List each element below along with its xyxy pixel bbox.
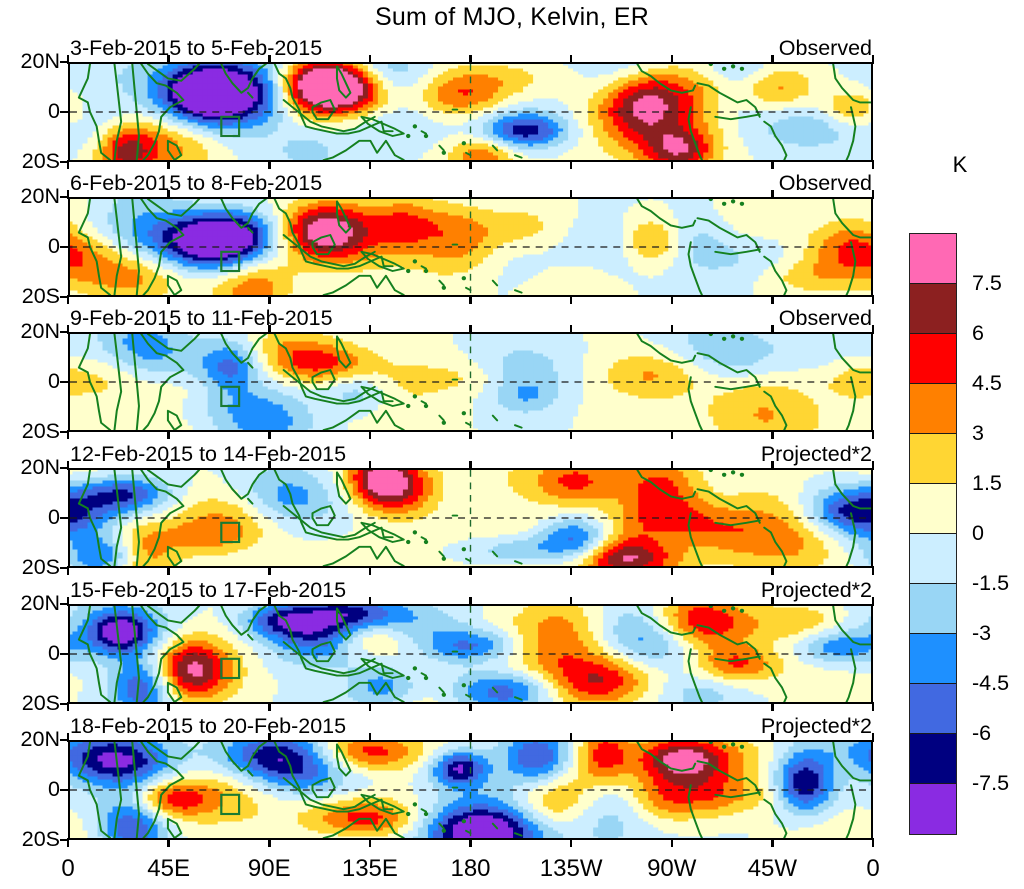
x-tick-mark bbox=[570, 597, 573, 606]
x-tick-mark bbox=[671, 430, 674, 439]
panel-date-label: 6-Feb-2015 to 8-Feb-2015 bbox=[70, 171, 322, 196]
colorbar-band bbox=[910, 684, 956, 734]
panel-date-label: 12-Feb-2015 to 14-Feb-2015 bbox=[70, 442, 346, 467]
colorbar-band bbox=[910, 634, 956, 684]
x-tick-mark bbox=[570, 702, 573, 711]
x-tick-mark bbox=[671, 55, 674, 64]
x-tick-mark bbox=[167, 430, 170, 439]
colorbar-band bbox=[910, 484, 956, 534]
panel-plot-area[interactable] bbox=[68, 62, 873, 162]
x-tick-mark bbox=[771, 325, 774, 334]
x-tick-mark bbox=[469, 160, 472, 169]
colorbar-tick-label: 7.5 bbox=[972, 273, 1002, 295]
panel-canvas bbox=[70, 470, 871, 566]
x-tick-label: 0 bbox=[61, 856, 74, 882]
x-tick-mark bbox=[671, 566, 674, 575]
x-tick-mark bbox=[872, 597, 875, 606]
x-tick-mark bbox=[268, 702, 271, 711]
x-tick-mark bbox=[268, 55, 271, 64]
panel-plot-area[interactable] bbox=[68, 197, 873, 297]
y-tick-label: 0 bbox=[0, 101, 60, 123]
panel-canvas bbox=[70, 606, 871, 702]
x-tick-mark bbox=[570, 733, 573, 742]
x-tick-label: 45E bbox=[147, 856, 190, 882]
colorbar-unit-label: K bbox=[930, 152, 990, 178]
x-tick-mark bbox=[268, 566, 271, 575]
x-tick-mark bbox=[671, 325, 674, 334]
x-tick-mark bbox=[369, 461, 372, 470]
colorbar-tick-label: -1.5 bbox=[972, 573, 1009, 595]
x-tick-mark bbox=[67, 295, 70, 304]
x-tick-mark bbox=[771, 733, 774, 742]
x-tick-label: 0 bbox=[866, 856, 879, 882]
x-tick-mark bbox=[167, 461, 170, 470]
colorbar-tick-label: 4.5 bbox=[972, 373, 1002, 395]
x-tick-mark bbox=[268, 597, 271, 606]
x-tick-mark bbox=[570, 160, 573, 169]
y-tick-label: 20N bbox=[0, 186, 60, 208]
x-tick-mark bbox=[771, 597, 774, 606]
x-tick-mark bbox=[872, 566, 875, 575]
x-tick-mark bbox=[771, 566, 774, 575]
x-tick-mark bbox=[67, 190, 70, 199]
colorbar-band bbox=[910, 784, 956, 834]
x-tick-mark bbox=[469, 325, 472, 334]
y-tick-mark bbox=[60, 517, 69, 520]
y-tick-mark bbox=[60, 246, 69, 249]
panel-kind-label: Projected*2 bbox=[761, 578, 872, 603]
colorbar-band bbox=[910, 334, 956, 384]
x-tick-mark bbox=[67, 160, 70, 169]
x-axis: 045E90E135E180135W90W45W0 bbox=[68, 856, 873, 886]
colorbar-band bbox=[910, 584, 956, 634]
x-tick-mark bbox=[872, 430, 875, 439]
x-tick-mark bbox=[570, 190, 573, 199]
y-tick-mark bbox=[60, 789, 69, 792]
x-tick-mark bbox=[67, 325, 70, 334]
panel-canvas bbox=[70, 64, 871, 160]
x-tick-mark bbox=[369, 325, 372, 334]
x-tick-label: 45W bbox=[748, 856, 797, 882]
x-tick-mark bbox=[369, 55, 372, 64]
x-tick-mark bbox=[369, 190, 372, 199]
x-tick-mark bbox=[771, 461, 774, 470]
panel-date-label: 15-Feb-2015 to 17-Feb-2015 bbox=[70, 578, 346, 603]
page-title: Sum of MJO, Kelvin, ER bbox=[0, 2, 1024, 32]
x-tick-mark bbox=[369, 160, 372, 169]
x-tick-mark bbox=[570, 430, 573, 439]
x-tick-mark bbox=[671, 838, 674, 847]
x-tick-mark bbox=[67, 838, 70, 847]
y-tick-label: 0 bbox=[0, 643, 60, 665]
y-tick-label: 20N bbox=[0, 457, 60, 479]
x-tick-mark bbox=[268, 295, 271, 304]
x-tick-mark bbox=[67, 566, 70, 575]
x-tick-mark bbox=[671, 461, 674, 470]
x-tick-label: 135W bbox=[540, 856, 603, 882]
x-tick-mark bbox=[570, 55, 573, 64]
x-tick-mark bbox=[469, 295, 472, 304]
y-tick-label: 20S bbox=[0, 151, 60, 173]
x-tick-mark bbox=[671, 295, 674, 304]
y-tick-label: 0 bbox=[0, 371, 60, 393]
x-tick-mark bbox=[469, 430, 472, 439]
colorbar-tick-label: -3 bbox=[972, 623, 991, 645]
y-tick-label: 20S bbox=[0, 286, 60, 308]
x-tick-mark bbox=[872, 160, 875, 169]
x-tick-mark bbox=[570, 838, 573, 847]
x-tick-mark bbox=[369, 838, 372, 847]
x-tick-mark bbox=[167, 733, 170, 742]
x-tick-mark bbox=[872, 325, 875, 334]
x-tick-mark bbox=[167, 325, 170, 334]
colorbar[interactable]: 7.564.531.50-1.5-3-4.5-6-7.5 bbox=[909, 233, 957, 835]
x-tick-mark bbox=[872, 55, 875, 64]
panel-date-label: 9-Feb-2015 to 11-Feb-2015 bbox=[70, 306, 333, 331]
x-tick-mark bbox=[167, 190, 170, 199]
x-tick-mark bbox=[671, 733, 674, 742]
x-tick-mark bbox=[167, 597, 170, 606]
panel-date-label: 3-Feb-2015 to 5-Feb-2015 bbox=[70, 36, 322, 61]
y-tick-label: 20S bbox=[0, 693, 60, 715]
y-tick-mark bbox=[60, 381, 69, 384]
x-tick-label: 90E bbox=[248, 856, 291, 882]
y-tick-label: 0 bbox=[0, 236, 60, 258]
panel-canvas bbox=[70, 334, 871, 430]
y-tick-label: 20S bbox=[0, 557, 60, 579]
colorbar-band bbox=[910, 284, 956, 334]
colorbar-tick-label: -6 bbox=[972, 723, 991, 745]
panel-kind-label: Projected*2 bbox=[761, 442, 872, 467]
x-tick-mark bbox=[167, 838, 170, 847]
colorbar-tick-label: -7.5 bbox=[972, 773, 1009, 795]
x-tick-label: 135E bbox=[342, 856, 398, 882]
x-tick-mark bbox=[469, 702, 472, 711]
panel-kind-label: Observed bbox=[779, 171, 872, 196]
x-tick-mark bbox=[570, 295, 573, 304]
x-tick-mark bbox=[771, 160, 774, 169]
x-tick-mark bbox=[268, 461, 271, 470]
panel-kind-label: Observed bbox=[779, 36, 872, 61]
x-tick-mark bbox=[771, 55, 774, 64]
colorbar-tick-label: 6 bbox=[972, 323, 984, 345]
x-tick-mark bbox=[67, 430, 70, 439]
x-tick-mark bbox=[369, 597, 372, 606]
y-tick-mark bbox=[60, 111, 69, 114]
x-tick-mark bbox=[167, 566, 170, 575]
x-tick-mark bbox=[469, 733, 472, 742]
x-tick-mark bbox=[369, 430, 372, 439]
x-tick-label: 180 bbox=[450, 856, 490, 882]
x-tick-mark bbox=[671, 160, 674, 169]
x-tick-mark bbox=[872, 838, 875, 847]
x-tick-mark bbox=[872, 733, 875, 742]
colorbar-band bbox=[910, 234, 956, 284]
x-tick-mark bbox=[570, 461, 573, 470]
panel-date-label: 18-Feb-2015 to 20-Feb-2015 bbox=[70, 714, 346, 739]
x-tick-mark bbox=[369, 295, 372, 304]
x-tick-mark bbox=[671, 597, 674, 606]
panel-canvas bbox=[70, 742, 871, 838]
x-tick-mark bbox=[872, 190, 875, 199]
panel-plot-area[interactable] bbox=[68, 332, 873, 432]
panel-plot-area[interactable] bbox=[68, 468, 873, 568]
y-tick-label: 20N bbox=[0, 321, 60, 343]
colorbar-band bbox=[910, 534, 956, 584]
x-tick-mark bbox=[369, 702, 372, 711]
y-tick-label: 0 bbox=[0, 507, 60, 529]
x-tick-mark bbox=[469, 461, 472, 470]
x-tick-mark bbox=[469, 190, 472, 199]
colorbar-band bbox=[910, 434, 956, 484]
y-tick-label: 20S bbox=[0, 421, 60, 443]
x-tick-label: 90W bbox=[647, 856, 696, 882]
x-tick-mark bbox=[872, 295, 875, 304]
x-tick-mark bbox=[67, 702, 70, 711]
x-tick-mark bbox=[570, 325, 573, 334]
y-tick-label: 20N bbox=[0, 51, 60, 73]
x-tick-mark bbox=[771, 295, 774, 304]
x-tick-mark bbox=[671, 702, 674, 711]
x-tick-mark bbox=[268, 325, 271, 334]
x-tick-mark bbox=[167, 702, 170, 711]
x-tick-mark bbox=[369, 566, 372, 575]
colorbar-tick-label: 3 bbox=[972, 423, 984, 445]
panel-plot-area[interactable] bbox=[68, 740, 873, 840]
colorbar-band bbox=[910, 734, 956, 784]
x-tick-mark bbox=[771, 190, 774, 199]
x-tick-mark bbox=[67, 55, 70, 64]
y-tick-label: 0 bbox=[0, 779, 60, 801]
panel-kind-label: Projected*2 bbox=[761, 714, 872, 739]
x-tick-mark bbox=[167, 295, 170, 304]
x-tick-mark bbox=[268, 430, 271, 439]
x-tick-mark bbox=[167, 55, 170, 64]
x-tick-mark bbox=[671, 190, 674, 199]
x-tick-mark bbox=[771, 702, 774, 711]
colorbar-band bbox=[910, 384, 956, 434]
x-tick-mark bbox=[469, 838, 472, 847]
x-tick-mark bbox=[67, 597, 70, 606]
x-tick-mark bbox=[268, 190, 271, 199]
panel-canvas bbox=[70, 199, 871, 295]
x-tick-mark bbox=[771, 838, 774, 847]
x-tick-mark bbox=[570, 566, 573, 575]
y-tick-mark bbox=[60, 653, 69, 656]
x-tick-mark bbox=[469, 566, 472, 575]
colorbar-tick-label: 1.5 bbox=[972, 473, 1002, 495]
x-tick-mark bbox=[469, 55, 472, 64]
panel-kind-label: Observed bbox=[779, 306, 872, 331]
x-tick-mark bbox=[67, 733, 70, 742]
x-tick-mark bbox=[469, 597, 472, 606]
y-tick-label: 20N bbox=[0, 729, 60, 751]
panel-plot-area[interactable] bbox=[68, 604, 873, 704]
x-tick-mark bbox=[872, 702, 875, 711]
y-tick-label: 20S bbox=[0, 829, 60, 851]
x-tick-mark bbox=[268, 733, 271, 742]
figure-root: Sum of MJO, Kelvin, ER 3-Feb-2015 to 5-F… bbox=[0, 0, 1024, 889]
x-tick-mark bbox=[771, 430, 774, 439]
x-tick-mark bbox=[369, 733, 372, 742]
colorbar-tick-label: 0 bbox=[972, 523, 984, 545]
x-tick-mark bbox=[167, 160, 170, 169]
y-tick-label: 20N bbox=[0, 593, 60, 615]
x-tick-mark bbox=[872, 461, 875, 470]
x-tick-mark bbox=[268, 160, 271, 169]
x-tick-mark bbox=[67, 461, 70, 470]
x-tick-mark bbox=[268, 838, 271, 847]
colorbar-tick-label: -4.5 bbox=[972, 673, 1009, 695]
